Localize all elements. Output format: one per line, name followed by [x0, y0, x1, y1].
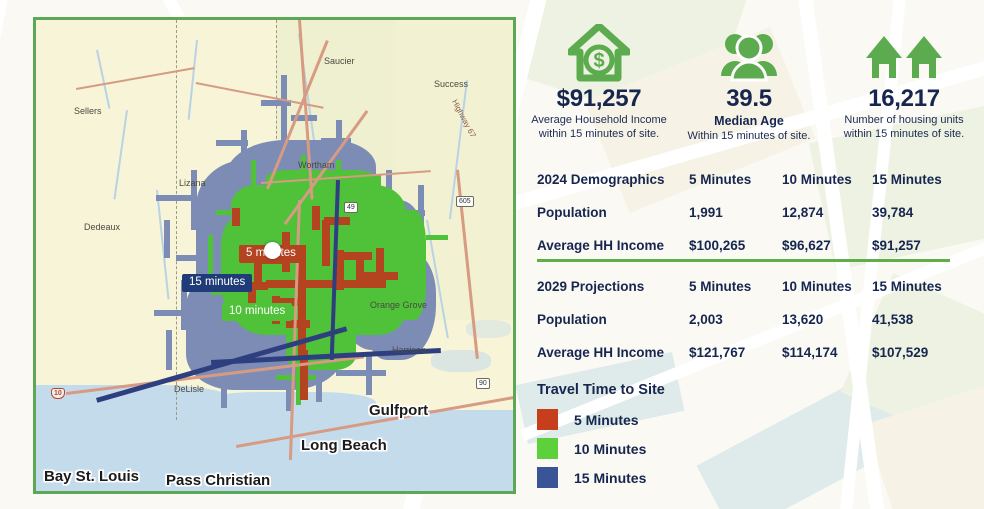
svg-text:$: $ [593, 50, 604, 72]
stat-median-age: 39.5 Median Age Within 15 minutes of sit… [674, 14, 824, 154]
city-label-bay-st-louis: Bay St. Louis [44, 468, 139, 485]
legend-item-15-minutes[interactable]: 15 Minutes [537, 467, 817, 488]
stat-caption-line2: Within 15 minutes of site. [688, 130, 811, 143]
two-houses-icon [862, 14, 946, 82]
column-header: 10 Minutes [782, 163, 872, 196]
legend-label: 5 Minutes [574, 412, 639, 428]
city-label-long-beach: Long Beach [301, 437, 387, 454]
cell-value: 13,620 [782, 303, 872, 336]
stat-value: 39.5 [726, 85, 772, 113]
legend-title: Travel Time to Site [537, 382, 817, 398]
column-header: 10 Minutes [782, 270, 872, 303]
table-row: Average HH Income $100,265 $96,627 $91,2… [537, 229, 961, 262]
cell-value: 1,991 [689, 196, 782, 229]
stat-caption-line2: within 15 minutes of site. [539, 128, 659, 141]
stat-caption-line1: Average Household Income [531, 114, 667, 127]
map-place-label: Orange Grove [370, 300, 427, 310]
column-header: 5 Minutes [689, 270, 782, 303]
legend-item-5-minutes[interactable]: 5 Minutes [537, 409, 817, 430]
house-dollar-icon: $ [568, 14, 630, 82]
cell-value: $107,529 [872, 336, 961, 369]
stat-caption-line1: Median Age [714, 114, 784, 129]
site-map[interactable]: Sellers Saucier Success Dedeaux Wortham … [33, 17, 516, 494]
map-place-label: Saucier [324, 56, 355, 66]
map-place-label: Harrison [392, 345, 426, 355]
stat-housing-units: 16,217 Number of housing units within 15… [824, 14, 984, 154]
city-label-pass-christian: Pass Christian [166, 472, 270, 489]
site-marker[interactable] [264, 242, 281, 259]
legend-swatch-5-minutes [537, 409, 558, 430]
column-header: 15 Minutes [872, 163, 961, 196]
row-label: Average HH Income [537, 229, 689, 262]
infographic-canvas: Sellers Saucier Success Dedeaux Wortham … [0, 0, 984, 509]
legend-label: 15 Minutes [574, 470, 646, 486]
column-header: 5 Minutes [689, 163, 782, 196]
cell-value: $100,265 [689, 229, 782, 262]
cell-value: $114,174 [782, 336, 872, 369]
map-place-label: Success [434, 79, 468, 89]
cell-value: 41,538 [872, 303, 961, 336]
cell-value: $121,767 [689, 336, 782, 369]
stat-average-household-income: $ $91,257 Average Household Income withi… [524, 14, 674, 154]
highway-shield-605: 605 [456, 196, 474, 207]
map-place-label: Dedeaux [84, 222, 120, 232]
data-panel: $ $91,257 Average Household Income withi… [524, 0, 984, 509]
highway-shield-49: 49 [344, 202, 358, 213]
cell-value: 12,874 [782, 196, 872, 229]
highway-shield-i10: 10 [51, 388, 65, 399]
stat-caption-line1: Number of housing units [844, 114, 963, 127]
map-tag-10-minutes: 10 minutes [222, 303, 292, 321]
cell-value: $96,627 [782, 229, 872, 262]
table-row: Population 2,003 13,620 41,538 [537, 303, 961, 336]
map-place-label: DeLisle [174, 384, 204, 394]
cell-value: 2,003 [689, 303, 782, 336]
legend-label: 10 Minutes [574, 441, 646, 457]
map-legend: Travel Time to Site 5 Minutes 10 Minutes… [537, 382, 817, 496]
map-tag-15-minutes: 15 minutes [182, 274, 252, 292]
table-row: Average HH Income $121,767 $114,174 $107… [537, 336, 961, 369]
map-place-label: Wortham [298, 160, 334, 170]
map-place-label: Lizana [179, 178, 206, 188]
row-label: Population [537, 303, 689, 336]
section-divider [537, 259, 950, 262]
legend-swatch-10-minutes [537, 438, 558, 459]
cell-value: 39,784 [872, 196, 961, 229]
column-header: 15 Minutes [872, 270, 961, 303]
row-label: Average HH Income [537, 336, 689, 369]
people-group-icon [718, 14, 780, 82]
table-title: 2024 Demographics [537, 163, 689, 196]
stat-caption-line2: within 15 minutes of site. [844, 128, 964, 141]
table-title: 2029 Projections [537, 270, 689, 303]
cell-value: $91,257 [872, 229, 961, 262]
key-stats-row: $ $91,257 Average Household Income withi… [524, 14, 984, 154]
legend-swatch-15-minutes [537, 467, 558, 488]
stat-value: 16,217 [868, 85, 940, 113]
table-2029-projections: 2029 Projections 5 Minutes 10 Minutes 15… [537, 270, 961, 369]
table-row: Population 1,991 12,874 39,784 [537, 196, 961, 229]
map-place-label: Sellers [74, 106, 102, 116]
stat-value: $91,257 [557, 85, 642, 113]
table-header-row: 2029 Projections 5 Minutes 10 Minutes 15… [537, 270, 961, 303]
table-header-row: 2024 Demographics 5 Minutes 10 Minutes 1… [537, 163, 961, 196]
row-label: Population [537, 196, 689, 229]
highway-shield-90: 90 [476, 378, 490, 389]
table-2024-demographics: 2024 Demographics 5 Minutes 10 Minutes 1… [537, 163, 961, 262]
legend-item-10-minutes[interactable]: 10 Minutes [537, 438, 817, 459]
city-label-gulfport: Gulfport [369, 402, 428, 419]
